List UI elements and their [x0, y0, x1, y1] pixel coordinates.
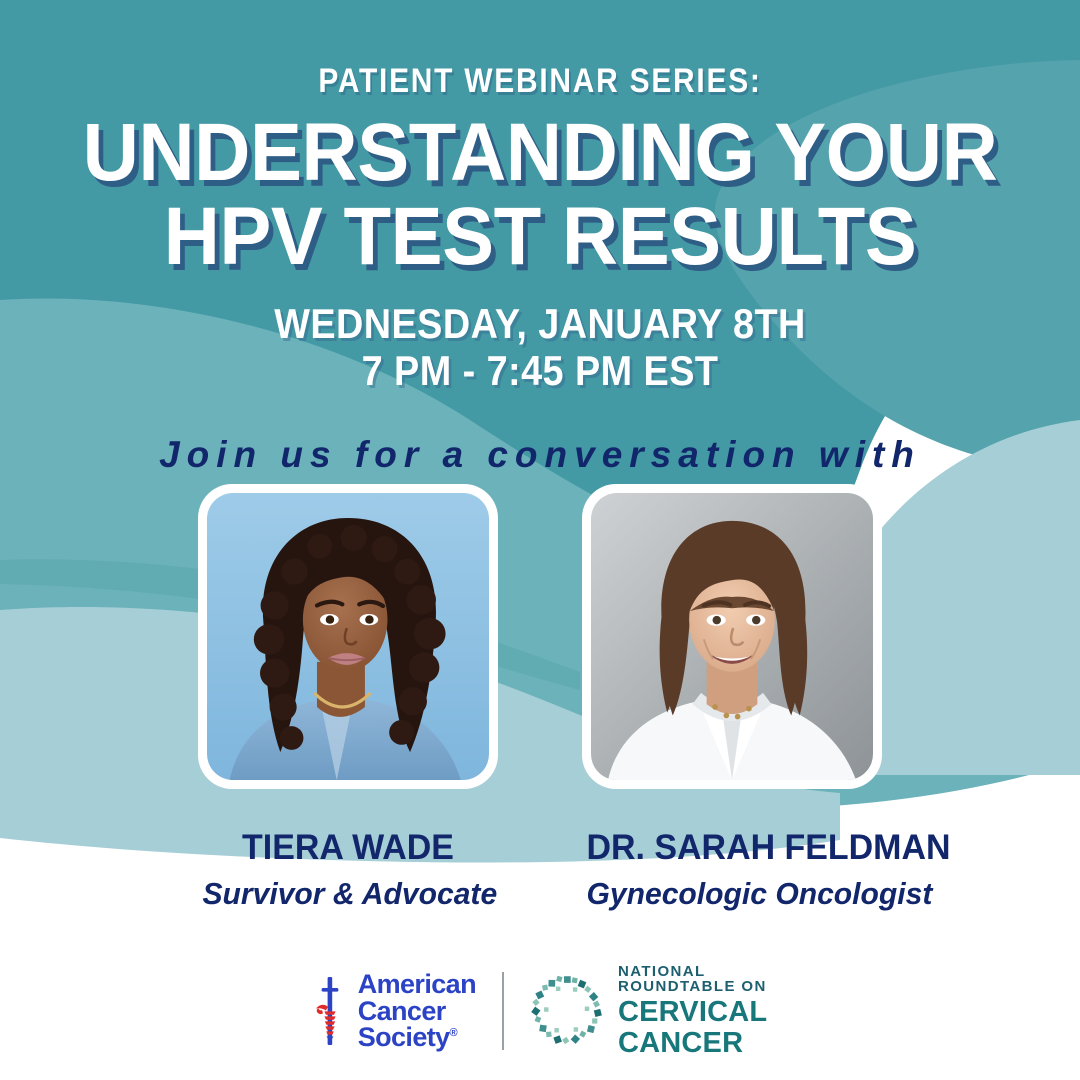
- kicker-text: PATIENT WEBINAR SERIES:: [65, 62, 1015, 101]
- title-line-2: HPV TEST RESULTS: [27, 197, 1053, 277]
- event-time: 7 PM - 7:45 PM EST: [54, 347, 1026, 394]
- page-title: UNDERSTANDING YOUR HPV TEST RESULTS: [27, 113, 1053, 278]
- acs-trademark: ®: [450, 1027, 458, 1039]
- acs-line-3: Society®: [358, 1024, 476, 1050]
- nrcc-line-4: CANCER: [618, 1028, 767, 1058]
- speaker-name: TIERA WADE: [203, 828, 494, 868]
- nrcc-line-1: NATIONAL: [618, 964, 767, 980]
- logo-divider: [502, 972, 504, 1050]
- speaker-photo-dr-sarah-feldman: [591, 493, 873, 780]
- speakers-row: TIERA WADE Survivor & Advocate: [0, 484, 1080, 912]
- speaker-card: TIERA WADE Survivor & Advocate: [198, 484, 498, 912]
- dotted-ring-icon: [530, 974, 604, 1048]
- nrcc-line-3: CERVICAL: [618, 997, 767, 1027]
- speaker-role: Survivor & Advocate: [203, 876, 494, 912]
- nrcc-wordmark: NATIONAL ROUNDTABLE ON CERVICAL CANCER: [618, 964, 767, 1058]
- photo-frame: [582, 484, 882, 789]
- acs-line-1: American: [358, 971, 476, 997]
- logo-row: American Cancer Society®: [0, 964, 1080, 1058]
- speaker-name: DR. SARAH FELDMAN: [587, 828, 878, 868]
- photo-frame: [198, 484, 498, 789]
- event-datetime: WEDNESDAY, JANUARY 8TH 7 PM - 7:45 PM ES…: [54, 300, 1026, 394]
- speaker-role: Gynecologic Oncologist: [587, 876, 878, 912]
- intro-text: Join us for a conversation with: [0, 434, 1080, 476]
- title-line-1: UNDERSTANDING YOUR: [83, 107, 998, 198]
- nrcc-line-2: ROUNDTABLE ON: [618, 979, 767, 995]
- acs-sword-serpent-icon: [313, 975, 347, 1047]
- header-block: PATIENT WEBINAR SERIES: UNDERSTANDING YO…: [0, 0, 1080, 394]
- speaker-card: DR. SARAH FELDMAN Gynecologic Oncologist: [582, 484, 882, 912]
- acs-line-2: Cancer: [358, 998, 476, 1024]
- national-roundtable-cervical-cancer-logo: NATIONAL ROUNDTABLE ON CERVICAL CANCER: [530, 964, 767, 1058]
- american-cancer-society-logo: American Cancer Society®: [313, 971, 476, 1050]
- event-date: WEDNESDAY, JANUARY 8TH: [274, 300, 806, 347]
- webinar-poster: PATIENT WEBINAR SERIES: UNDERSTANDING YO…: [0, 0, 1080, 1080]
- speaker-photo-tiera-wade: [207, 493, 489, 780]
- acs-wordmark: American Cancer Society®: [358, 971, 476, 1050]
